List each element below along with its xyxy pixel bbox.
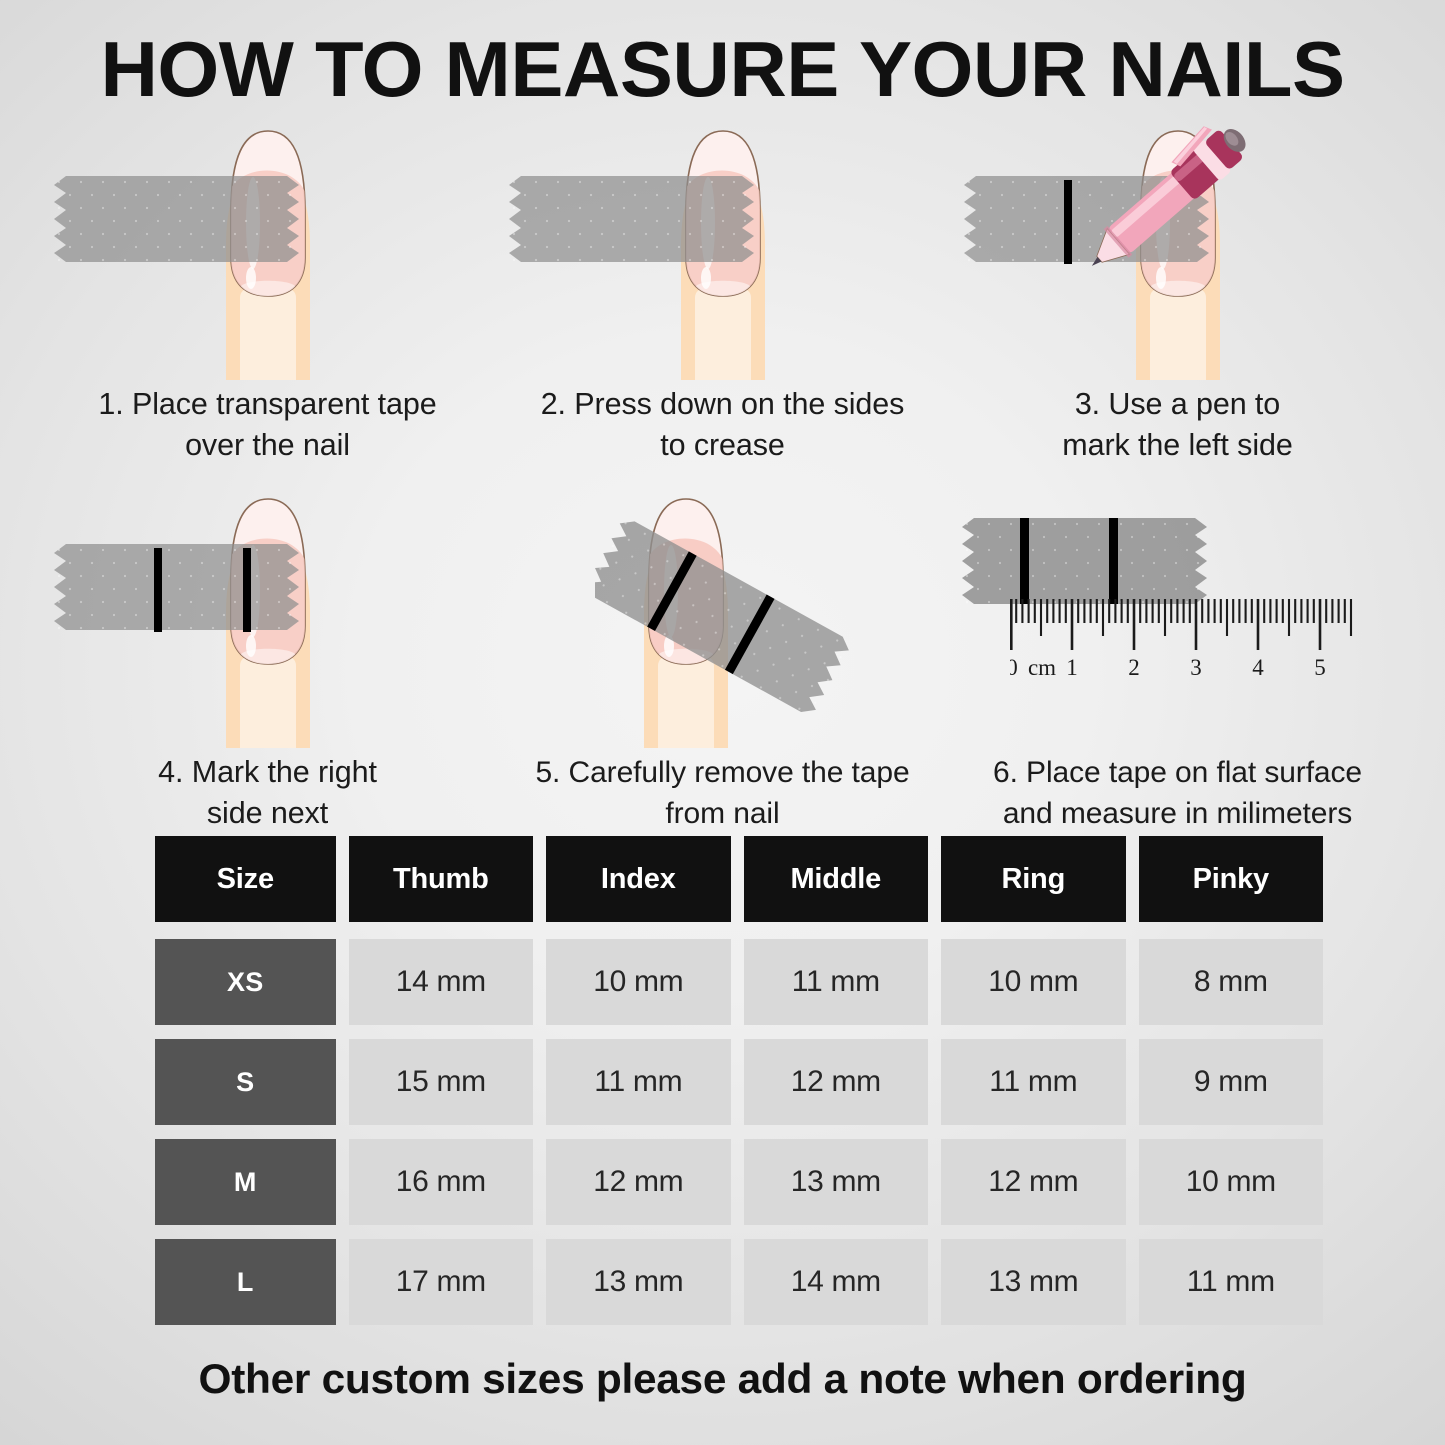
step-6: 0 cm 1 2 3 4 5 6. Place tape on flat sur… <box>950 486 1405 834</box>
ruler-tick-2: 2 <box>1128 655 1140 680</box>
step-2-illustration <box>495 118 950 380</box>
step-5: 5. Carefully remove the tape from nail <box>495 486 950 834</box>
table-cell-middle: 13 mm <box>744 1139 929 1225</box>
table-size-label: M <box>155 1139 336 1225</box>
page-title: HOW TO MEASURE YOUR NAILS <box>0 26 1445 112</box>
step-1-illustration <box>40 118 495 380</box>
table-cell-middle: 12 mm <box>744 1039 929 1125</box>
table-header-middle: Middle <box>744 836 929 922</box>
ruler-tick-1: 1 <box>1066 655 1078 680</box>
table-header-thumb: Thumb <box>349 836 534 922</box>
step-4-caption-line1: 4. Mark the right <box>158 755 377 789</box>
step-3-caption: 3. Use a pen to mark the left side <box>963 384 1393 466</box>
size-table: Size Thumb Index Middle Ring Pinky XS 14… <box>155 836 1323 1339</box>
step-5-illustration <box>495 486 950 748</box>
table-cell-pinky: 8 mm <box>1139 939 1324 1025</box>
step-5-caption: 5. Carefully remove the tape from nail <box>508 752 938 834</box>
step-3-illustration <box>950 118 1405 380</box>
step-2-caption-line1: 2. Press down on the sides <box>541 387 905 421</box>
table-size-label: XS <box>155 939 336 1025</box>
table-header-row: Size Thumb Index Middle Ring Pinky <box>155 836 1323 922</box>
step-1-caption-line1: 1. Place transparent tape <box>98 387 436 421</box>
step-6-caption-line1: 6. Place tape on flat surface <box>993 756 1362 789</box>
step-2-caption: 2. Press down on the sides to crease <box>508 384 938 466</box>
table-row: S 15 mm 11 mm 12 mm 11 mm 9 mm <box>155 1039 1323 1125</box>
step-4-illustration <box>40 486 495 748</box>
table-cell-ring: 12 mm <box>941 1139 1126 1225</box>
table-cell-thumb: 15 mm <box>349 1039 534 1125</box>
tape-strip-icon <box>509 176 754 262</box>
ruler-unit-label: cm <box>1028 655 1056 680</box>
ruler-tick-4: 4 <box>1252 655 1264 680</box>
table-row: XS 14 mm 10 mm 11 mm 10 mm 8 mm <box>155 939 1323 1025</box>
step-3: 3. Use a pen to mark the left side <box>950 118 1405 466</box>
step-2: 2. Press down on the sides to crease <box>495 118 950 466</box>
footer-note: Other custom sizes please add a note whe… <box>0 1355 1445 1403</box>
table-row: M 16 mm 12 mm 13 mm 12 mm 10 mm <box>155 1139 1323 1225</box>
table-row: L 17 mm 13 mm 14 mm 13 mm 11 mm <box>155 1239 1323 1325</box>
peeled-tape-icon <box>595 508 925 738</box>
steps-row-2: 4. Mark the right side next <box>40 486 1405 834</box>
tape-strip-icon <box>54 544 299 630</box>
table-header-ring: Ring <box>941 836 1126 922</box>
table-cell-index: 12 mm <box>546 1139 731 1225</box>
nail-right-mark <box>243 548 251 632</box>
table-cell-index: 11 mm <box>546 1039 731 1125</box>
step-3-caption-line2: mark the left side <box>1062 428 1292 462</box>
step-6-caption-line2: and measure in milimeters <box>1003 797 1352 830</box>
table-cell-middle: 11 mm <box>744 939 929 1025</box>
table-cell-thumb: 17 mm <box>349 1239 534 1325</box>
infographic-page: HOW TO MEASURE YOUR NAILS <box>0 0 1445 1445</box>
step-3-caption-line1: 3. Use a pen to <box>1075 387 1280 421</box>
tape-strip-icon <box>962 518 1207 604</box>
table-cell-pinky: 10 mm <box>1139 1139 1324 1225</box>
step-5-caption-line1: 5. Carefully remove the tape <box>535 756 909 789</box>
steps-grid: 1. Place transparent tape over the nail <box>40 118 1405 834</box>
step-1-caption-line2: over the nail <box>185 428 350 462</box>
step-6-illustration: 0 cm 1 2 3 4 5 <box>950 486 1405 748</box>
ruler-tick-5: 5 <box>1314 655 1326 680</box>
table-cell-pinky: 11 mm <box>1139 1239 1324 1325</box>
table-cell-middle: 14 mm <box>744 1239 929 1325</box>
table-cell-ring: 11 mm <box>941 1039 1126 1125</box>
table-size-label: S <box>155 1039 336 1125</box>
nail-left-mark <box>154 548 162 632</box>
table-header-index: Index <box>546 836 731 922</box>
step-4: 4. Mark the right side next <box>40 486 495 834</box>
steps-row-1: 1. Place transparent tape over the nail <box>40 118 1405 466</box>
step-1-caption: 1. Place transparent tape over the nail <box>53 384 483 466</box>
step-1: 1. Place transparent tape over the nail <box>40 118 495 466</box>
step-5-caption-line2: from nail <box>665 797 779 830</box>
table-size-label: L <box>155 1239 336 1325</box>
pen-icon <box>1068 116 1268 286</box>
ruler-tick-0: 0 <box>1010 655 1018 680</box>
tape-strip-icon <box>54 176 299 262</box>
step-2-caption-line2: to crease <box>660 428 785 462</box>
step-4-caption: 4. Mark the right side next <box>53 752 483 834</box>
table-cell-thumb: 16 mm <box>349 1139 534 1225</box>
ruler-icon: 0 cm 1 2 3 4 5 <box>1010 599 1360 684</box>
ruler-tick-3: 3 <box>1190 655 1202 680</box>
table-cell-index: 13 mm <box>546 1239 731 1325</box>
step-6-caption: 6. Place tape on flat surface and measur… <box>963 752 1393 834</box>
step-4-caption-line2: side next <box>207 796 328 830</box>
table-cell-index: 10 mm <box>546 939 731 1025</box>
table-cell-ring: 13 mm <box>941 1239 1126 1325</box>
table-header-pinky: Pinky <box>1139 836 1324 922</box>
table-cell-ring: 10 mm <box>941 939 1126 1025</box>
table-header-size: Size <box>155 836 336 922</box>
table-cell-thumb: 14 mm <box>349 939 534 1025</box>
table-cell-pinky: 9 mm <box>1139 1039 1324 1125</box>
